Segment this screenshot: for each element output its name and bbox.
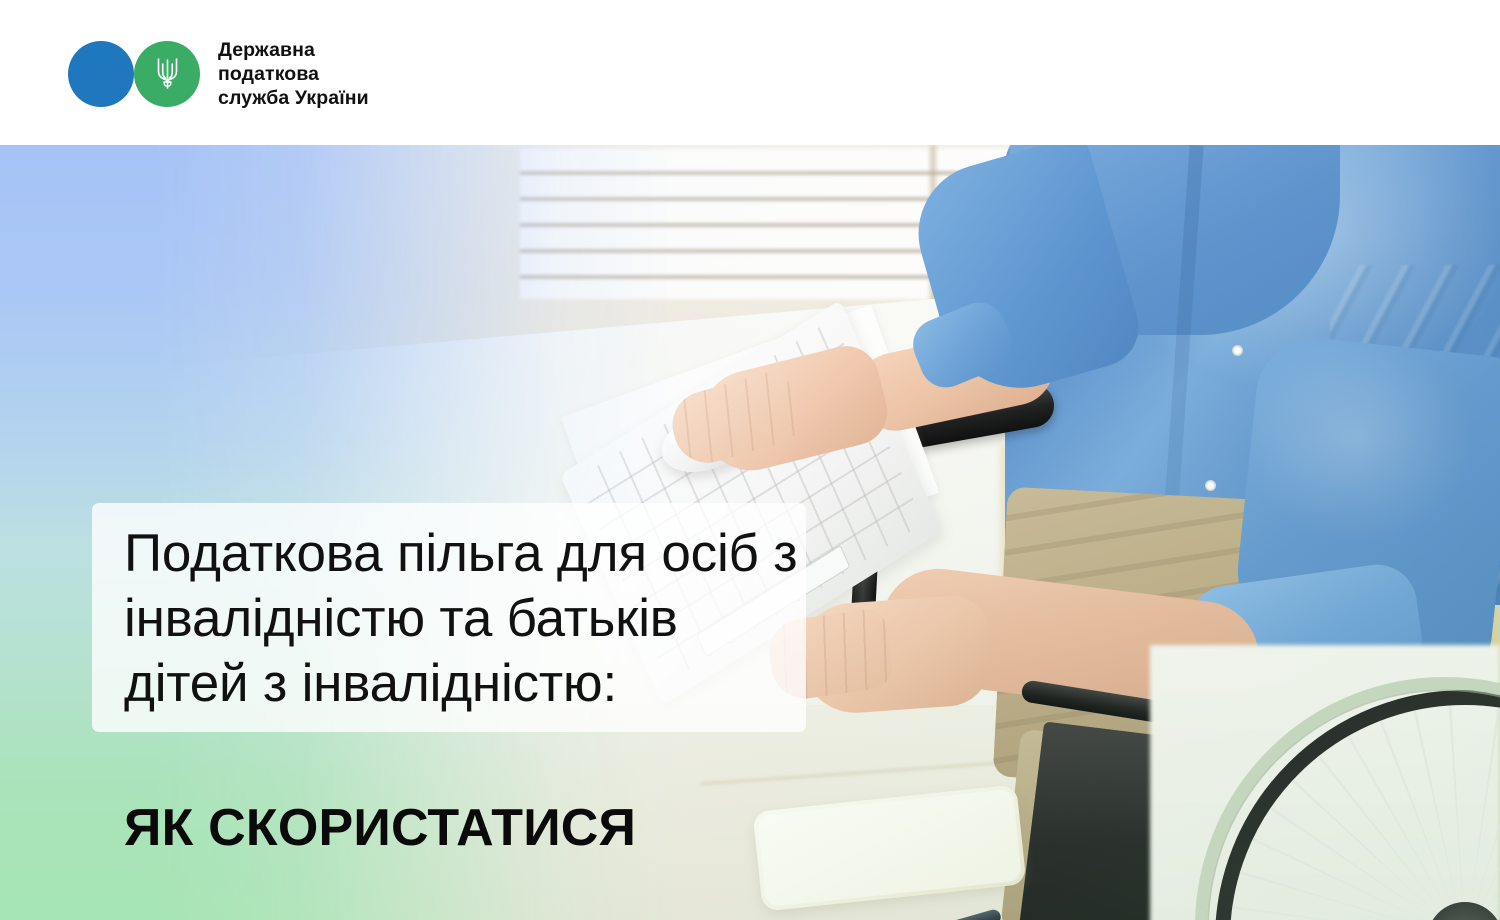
logo-circle-blue-icon: [68, 41, 134, 107]
organization-name: Державна податкова служба України: [218, 38, 369, 110]
banner-stage: Податкова пільга для осіб з інвалідністю…: [0, 145, 1500, 920]
trident-icon: [134, 41, 200, 107]
tax-service-logo: [68, 41, 200, 107]
brand-lockup: Державна податкова служба України: [68, 38, 369, 110]
shirt-button: [1205, 480, 1216, 491]
poster-canvas: Державна податкова служба України: [0, 0, 1500, 920]
shirt-button: [1232, 345, 1243, 356]
page-title: Податкова пільга для осіб з інвалідністю…: [124, 521, 806, 716]
headline-panel: Податкова пільга для осіб з інвалідністю…: [92, 503, 806, 732]
header-bar: Державна податкова служба України: [0, 0, 1500, 145]
page-subtitle: ЯК СКОРИСТАТИСЯ: [124, 798, 636, 858]
